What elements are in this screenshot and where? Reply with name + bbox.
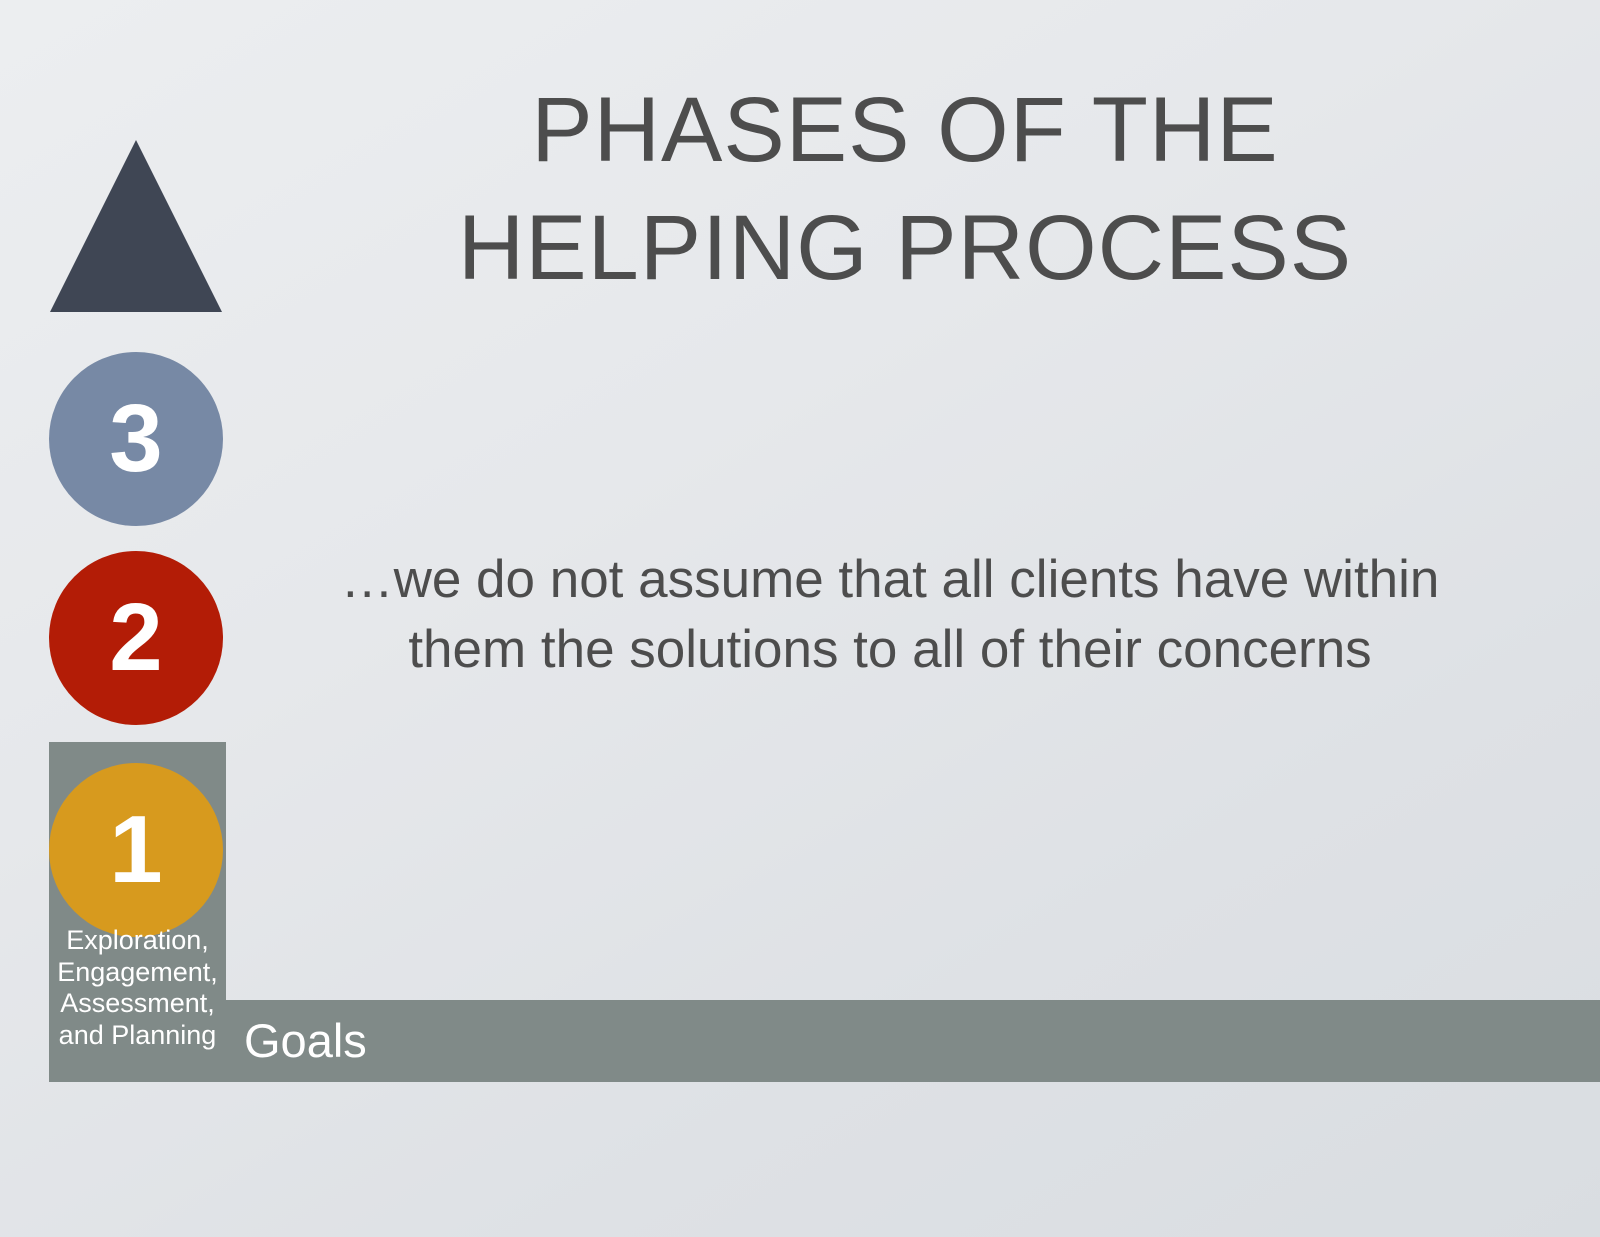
- phase-marker-1[interactable]: 1: [49, 763, 223, 937]
- phase-marker-3-number: 3: [109, 391, 162, 487]
- active-phase-caption-line: Engagement,: [57, 957, 218, 987]
- section-bar: [226, 1000, 1600, 1082]
- active-phase-caption-line: Exploration,: [66, 925, 209, 955]
- phase-marker-1-number: 1: [109, 802, 162, 898]
- phase-triangle-icon: [50, 140, 222, 312]
- slide-body-line: …we do not assume that all clients have …: [300, 545, 1480, 615]
- slide-title-line: PHASES OF THE: [300, 72, 1510, 190]
- slide-canvas: 3 2 1 Exploration, Engagement, Assessmen…: [0, 0, 1600, 1237]
- active-phase-caption: Exploration, Engagement, Assessment, and…: [49, 925, 226, 1051]
- phase-marker-3[interactable]: 3: [49, 352, 223, 526]
- phase-marker-2[interactable]: 2: [49, 551, 223, 725]
- slide-title: PHASES OF THE HELPING PROCESS: [300, 72, 1510, 308]
- active-phase-caption-line: and Planning: [59, 1020, 217, 1050]
- slide-footer: Jacob Campbell, LICSW Heritage Universit…: [0, 1082, 1600, 1237]
- slide-title-line: HELPING PROCESS: [300, 190, 1510, 308]
- phase-marker-2-number: 2: [109, 590, 162, 686]
- section-label: Goals: [244, 1008, 367, 1074]
- active-phase-caption-line: Assessment,: [60, 988, 215, 1018]
- slide-body-line: them the solutions to all of their conce…: [300, 615, 1480, 685]
- slide-body-text: …we do not assume that all clients have …: [300, 545, 1480, 685]
